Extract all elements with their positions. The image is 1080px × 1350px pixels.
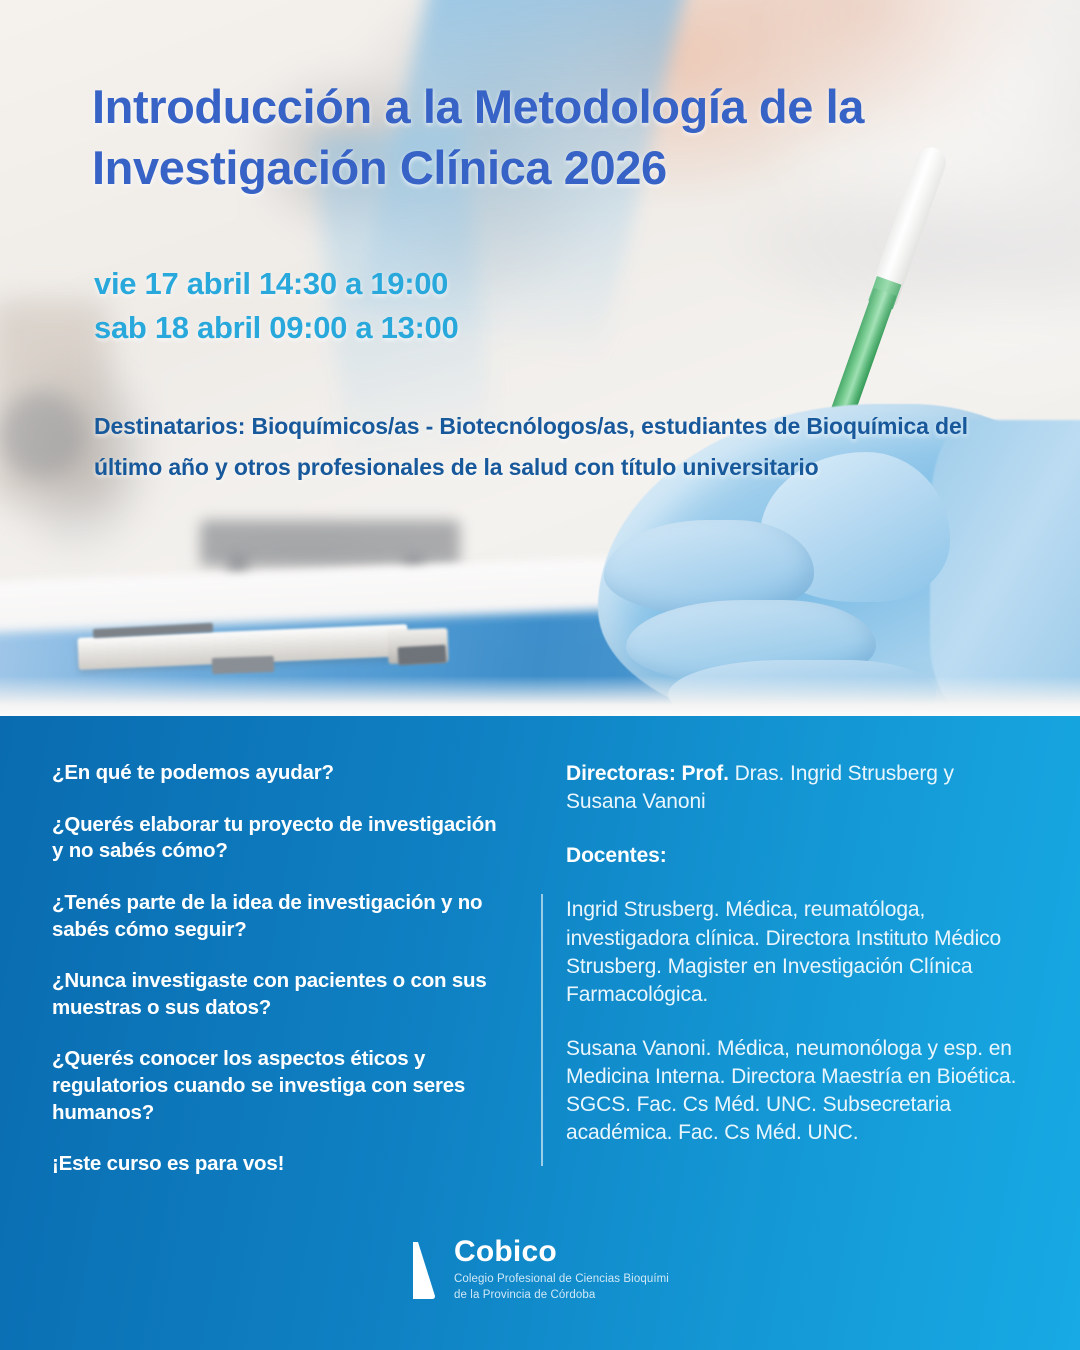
audience-text: Destinatarios: Bioquímicos/as - Biotecnó… <box>94 406 974 488</box>
hero-text-layer: Introducción a la Metodología de la Inve… <box>0 0 1080 716</box>
docente-bio: Ingrid Strusberg. Médica, reumatóloga, i… <box>566 896 1018 1009</box>
poster-canvas: Introducción a la Metodología de la Inve… <box>0 0 1080 1350</box>
question-item: ¿Nunca investigaste con pacientes o con … <box>52 968 510 1021</box>
event-dates: vie 17 abril 14:30 a 19:00 sab 18 abril … <box>94 262 854 350</box>
event-date-line-2: sab 18 abril 09:00 a 13:00 <box>94 306 854 350</box>
page-title: Introducción a la Metodología de la Inve… <box>92 76 992 198</box>
question-item: ¿Querés elaborar tu proyecto de investig… <box>52 812 510 865</box>
questions-column: ¿En qué te podemos ayudar? ¿Querés elabo… <box>52 760 510 1178</box>
question-item: ¿Querés conocer los aspectos éticos y re… <box>52 1046 510 1126</box>
call-to-action-text: ¡Este curso es para vos! <box>52 1151 510 1178</box>
column-divider <box>541 894 543 1166</box>
logo-text-group: Cobico Colegio Profesional de Ciencias B… <box>454 1236 746 1303</box>
flask-icon <box>408 1240 442 1302</box>
logo-subtitle-line-1: Colegio Profesional de Ciencias Bioquími <box>454 1272 746 1288</box>
cobico-logo: Cobico Colegio Profesional de Ciencias B… <box>408 1236 738 1314</box>
question-item: ¿Tenés parte de la idea de investigación… <box>52 890 510 943</box>
page-title-line-1: Introducción a la Metodología de la <box>92 76 992 137</box>
page-title-line-2: Investigación Clínica 2026 <box>92 137 992 198</box>
logo-name: Cobico <box>454 1237 746 1267</box>
staff-column: Directoras: Prof. Dras. Ingrid Strusberg… <box>566 760 1018 1147</box>
directoras-label: Directoras: Prof. <box>566 762 729 785</box>
directoras-block: Directoras: Prof. Dras. Ingrid Strusberg… <box>566 760 1018 816</box>
docente-bio: Susana Vanoni. Médica, neumonóloga y esp… <box>566 1035 1018 1148</box>
docentes-label: Docentes: <box>566 842 1018 870</box>
event-date-line-1: vie 17 abril 14:30 a 19:00 <box>94 262 854 306</box>
logo-subtitle-line-2: de la Provincia de Córdoba <box>454 1288 746 1304</box>
question-item: ¿En qué te podemos ayudar? <box>52 760 510 787</box>
